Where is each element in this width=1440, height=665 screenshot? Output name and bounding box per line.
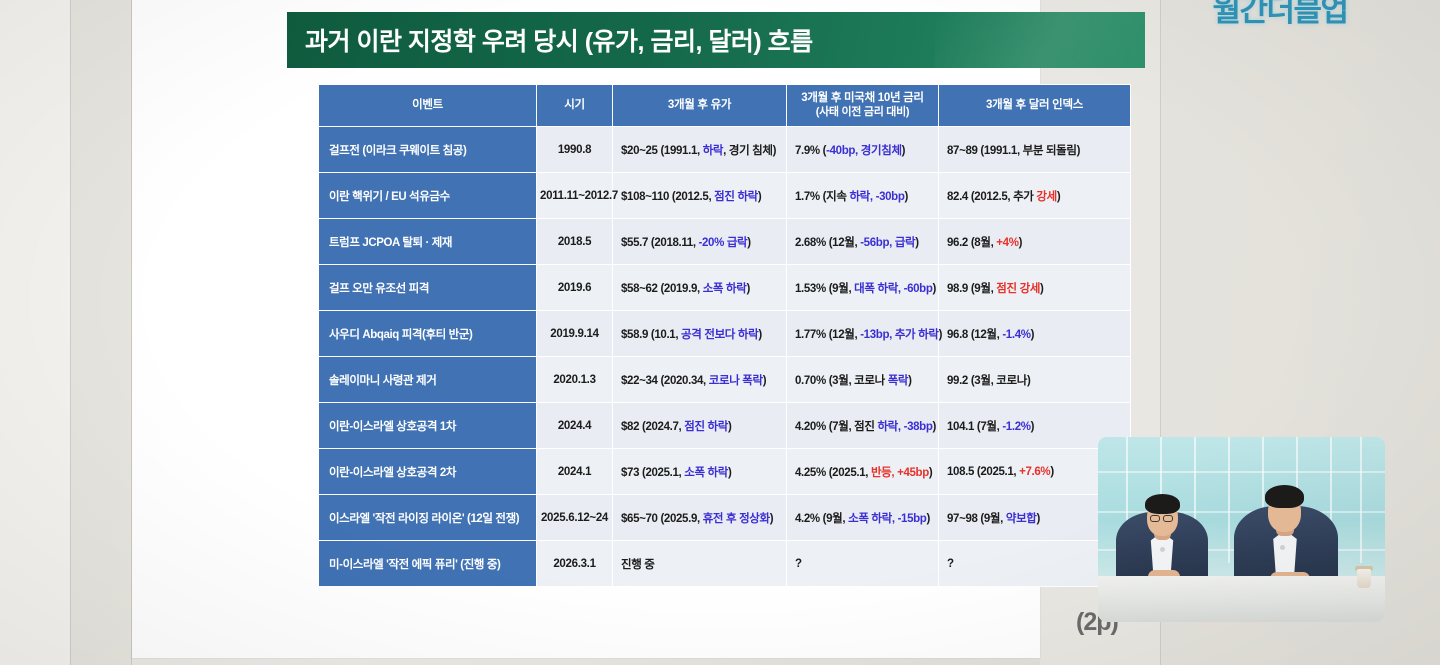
cell-period: 2024.1 [537, 449, 613, 495]
text-segment: ) [902, 145, 905, 157]
text-segment: 코로나 폭락 [709, 375, 763, 387]
table-row: 트럼프 JCPOA 탈퇴 · 제재2018.5$55.7 (2018.11, -… [319, 219, 1131, 265]
text-segment: -40bp, 경기침체 [826, 145, 902, 157]
text-segment: ) [1057, 191, 1060, 203]
table-row: 이란-이스라엘 상호공격 2차2024.1$73 (2025.1, 소폭 하락)… [319, 449, 1131, 495]
text-segment: $58.9 (10.1, [621, 329, 681, 341]
text-segment: ? [947, 558, 954, 570]
wall-panel-left-a [0, 0, 70, 665]
cell-oil-price: $58~62 (2019.9, 소폭 하락) [613, 265, 787, 311]
text-segment: 96.2 (8월, [947, 237, 996, 249]
column-header-event: 이벤트 [319, 85, 537, 127]
text-segment: 7.9% ( [795, 145, 826, 157]
text-segment: ) [929, 467, 932, 479]
table-row: 솔레이마니 사령관 제거2020.1.3$22~34 (2020.34, 코로나… [319, 357, 1131, 403]
text-segment: 99.2 (3월, 코로나) [947, 375, 1030, 387]
text-segment: $55.7 (2018.11, [621, 237, 699, 249]
text-segment: ? [795, 558, 802, 570]
cell-dollar-index: 96.8 (12월, -1.4%) [939, 311, 1131, 357]
text-segment: 1.77% (12월, [795, 329, 860, 341]
table-row: 이스라엘 '작전 라이징 라이온' (12일 전쟁)2025.6.12~24$6… [319, 495, 1131, 541]
cell-treasury-rate: 0.70% (3월, 코로나 폭락) [787, 357, 939, 403]
cell-treasury-rate: 4.2% (9월, 소폭 하락, -15bp) [787, 495, 939, 541]
cell-oil-price: $20~25 (1991.1, 하락, 경기 침체) [613, 127, 787, 173]
cell-period: 2011.11~2012.7 [537, 173, 613, 219]
text-segment: ) [758, 191, 761, 203]
table-row: 걸프전 (이라크 쿠웨이트 침공)1990.8$20~25 (1991.1, 하… [319, 127, 1131, 173]
text-segment: 소폭 하락 [703, 283, 747, 295]
text-segment: ) [915, 237, 918, 249]
cell-period: 2026.3.1 [537, 541, 613, 587]
text-segment: 점진 하락 [684, 421, 728, 433]
anchor-right-hair [1265, 485, 1304, 508]
cell-event: 이란-이스라엘 상호공격 1차 [319, 403, 537, 449]
anchor-left-glasses-left [1150, 515, 1160, 522]
text-segment: ) [728, 467, 731, 479]
cell-dollar-index: 87~89 (1991.1, 부분 되돌림) [939, 127, 1131, 173]
text-segment: ) [758, 329, 761, 341]
text-segment: 96.8 (12월, [947, 329, 1002, 341]
window-transom-1 [1098, 471, 1385, 473]
cell-oil-price: 진행 중 [613, 541, 787, 587]
cell-oil-price: $58.9 (10.1, 공격 전보다 하락) [613, 311, 787, 357]
studio-desk [1098, 576, 1385, 622]
text-segment: ) [905, 191, 908, 203]
table-body: 걸프전 (이라크 쿠웨이트 침공)1990.8$20~25 (1991.1, 하… [319, 127, 1131, 587]
text-segment: +4% [996, 237, 1018, 249]
text-segment: -20% 급락 [699, 237, 748, 249]
text-segment: ) [728, 421, 731, 433]
text-segment: $73 (2025.1, [621, 467, 684, 479]
events-table: 이벤트 시기 3개월 후 유가 3개월 후 미국채 10년 금리 (사태 이전 … [318, 84, 1131, 587]
cell-treasury-rate: 1.77% (12월, -13bp, 추가 하락) [787, 311, 939, 357]
text-segment: 점진 강세 [996, 283, 1040, 295]
studio-video-inset[interactable] [1098, 437, 1385, 622]
cell-event: 사우디 Abqaiq 피격(후티 반군) [319, 311, 537, 357]
cell-dollar-index: 98.9 (9월, 점진 강세) [939, 265, 1131, 311]
text-segment: 폭락 [888, 375, 908, 387]
window-mullion-4 [1228, 437, 1230, 563]
wall-panel-left-b [70, 0, 132, 665]
cell-period: 1990.8 [537, 127, 613, 173]
anchor-left-hair [1145, 494, 1180, 514]
column-header-period: 시기 [537, 85, 613, 127]
cell-dollar-index: 82.4 (2012.5, 추가 강세) [939, 173, 1131, 219]
text-segment: ) [1040, 283, 1043, 295]
text-segment: -56bp, 급락 [860, 237, 915, 249]
text-segment: $82 (2024.7, [621, 421, 684, 433]
text-segment: 소폭 하락, -15bp [848, 513, 926, 525]
cell-period: 2024.4 [537, 403, 613, 449]
text-segment: 소폭 하락 [684, 467, 728, 479]
cell-oil-price: $82 (2024.7, 점진 하락) [613, 403, 787, 449]
wall-seam-1 [70, 0, 71, 665]
cell-treasury-rate: 4.20% (7월, 점진 하락, -38bp) [787, 403, 939, 449]
table-header: 이벤트 시기 3개월 후 유가 3개월 후 미국채 10년 금리 (사태 이전 … [319, 85, 1131, 127]
table-header-row: 이벤트 시기 3개월 후 유가 3개월 후 미국채 10년 금리 (사태 이전 … [319, 85, 1131, 127]
cell-treasury-rate: 1.53% (9월, 대폭 하락, -60bp) [787, 265, 939, 311]
text-segment: ) [1050, 466, 1053, 478]
text-segment: ) [747, 237, 750, 249]
cell-period: 2025.6.12~24 [537, 495, 613, 541]
cell-oil-price: $22~34 (2020.34, 코로나 폭락) [613, 357, 787, 403]
column-header-rate-sub: (사태 이전 금리 대비) [789, 106, 936, 120]
anchor-left-lapel-mic [1160, 547, 1165, 552]
text-segment: ) [908, 375, 911, 387]
text-segment: 1.53% (9월, [795, 283, 854, 295]
cell-period: 2019.6 [537, 265, 613, 311]
text-segment: 108.5 (2025.1, [947, 466, 1019, 478]
text-segment: 98.9 (9월, [947, 283, 996, 295]
slide-title-banner: 과거 이란 지정학 우려 당시 (유가, 금리, 달러) 흐름 [287, 12, 1145, 68]
cell-oil-price: $65~70 (2025.9, 휴전 후 정상화) [613, 495, 787, 541]
text-segment: ) [1037, 513, 1040, 525]
text-segment: 104.1 (7월, [947, 421, 1002, 433]
text-segment: 82.4 (2012.5, 추가 [947, 191, 1036, 203]
text-segment: 하락, -38bp [877, 421, 932, 433]
cell-treasury-rate: 2.68% (12월, -56bp, 급락) [787, 219, 939, 265]
text-segment: ) [746, 283, 749, 295]
broadcaster-logo: 월간더블업 [1182, 0, 1378, 30]
text-segment: $65~70 (2025.9, [621, 513, 703, 525]
window-mullion-8 [1360, 437, 1362, 563]
cell-dollar-index: 99.2 (3월, 코로나) [939, 357, 1131, 403]
text-segment: -1.2% [1002, 421, 1030, 433]
text-segment: 4.20% (7월, 점진 [795, 421, 877, 433]
text-segment: ) [939, 329, 942, 341]
table-row: 걸프 오만 유조선 피격2019.6$58~62 (2019.9, 소폭 하락)… [319, 265, 1131, 311]
text-segment: $20~25 (1991.1, [621, 145, 703, 157]
text-segment: 4.25% (2025.1, [795, 467, 871, 479]
cell-event: 이스라엘 '작전 라이징 라이온' (12일 전쟁) [319, 495, 537, 541]
column-header-dollar: 3개월 후 달러 인덱스 [939, 85, 1131, 127]
cell-oil-price: $73 (2025.1, 소폭 하락) [613, 449, 787, 495]
text-segment: 대폭 하락, -60bp [854, 283, 932, 295]
text-segment: 하락 [703, 145, 723, 157]
events-table-container: 이벤트 시기 3개월 후 유가 3개월 후 미국채 10년 금리 (사태 이전 … [318, 84, 1130, 587]
text-segment: 97~98 (9월, [947, 513, 1006, 525]
cell-treasury-rate: 1.7% (지속 하락, -30bp) [787, 173, 939, 219]
cell-dollar-index: 96.2 (8월, +4%) [939, 219, 1131, 265]
text-segment: $58~62 (2019.9, [621, 283, 703, 295]
cell-event: 트럼프 JCPOA 탈퇴 · 제재 [319, 219, 537, 265]
text-segment: ) [933, 283, 936, 295]
text-segment: ) [1031, 421, 1034, 433]
column-header-rate: 3개월 후 미국채 10년 금리 (사태 이전 금리 대비) [787, 85, 939, 127]
text-segment: 휴전 후 정상화 [703, 513, 770, 525]
text-segment: ) [763, 375, 766, 387]
text-segment: ) [1019, 237, 1022, 249]
column-header-rate-main: 3개월 후 미국채 10년 금리 [801, 92, 923, 104]
text-segment: , 경기 침체) [723, 145, 776, 157]
cell-treasury-rate: ? [787, 541, 939, 587]
cell-event: 걸프 오만 유조선 피격 [319, 265, 537, 311]
cell-event: 이란 핵위기 / EU 석유금수 [319, 173, 537, 219]
text-segment: $22~34 (2020.34, [621, 375, 709, 387]
cell-period: 2019.9.14 [537, 311, 613, 357]
presentation-slide: 과거 이란 지정학 우려 당시 (유가, 금리, 달러) 흐름 이벤트 시기 3… [132, 0, 1040, 658]
cell-treasury-rate: 4.25% (2025.1, 반등, +45bp) [787, 449, 939, 495]
text-segment: -13bp, 추가 하락 [860, 329, 938, 341]
broadcaster-logo-text: 월간더블업 [1212, 0, 1347, 30]
coffee-cup [1357, 569, 1371, 588]
text-segment: 강세 [1036, 191, 1056, 203]
text-segment: ) [933, 421, 936, 433]
text-segment: 1.7% (지속 [795, 191, 849, 203]
cell-event: 걸프전 (이라크 쿠웨이트 침공) [319, 127, 537, 173]
text-segment: 하락, -30bp [849, 191, 904, 203]
text-segment: -1.4% [1002, 329, 1030, 341]
text-segment: +7.6% [1019, 466, 1050, 478]
text-segment: $108~110 (2012.5, [621, 191, 714, 203]
text-segment: 반등, +45bp [871, 467, 929, 479]
text-segment: 진행 중 [621, 559, 655, 571]
table-row: 미-이스라엘 '작전 에픽 퓨리' (진행 중)2026.3.1진행 중?? [319, 541, 1131, 587]
cell-period: 2020.1.3 [537, 357, 613, 403]
cell-oil-price: $108~110 (2012.5, 점진 하락) [613, 173, 787, 219]
cell-period: 2018.5 [537, 219, 613, 265]
cell-oil-price: $55.7 (2018.11, -20% 급락) [613, 219, 787, 265]
cell-event: 미-이스라엘 '작전 에픽 퓨리' (진행 중) [319, 541, 537, 587]
text-segment: 약보합 [1006, 513, 1037, 525]
text-segment: ) [927, 513, 930, 525]
column-header-oil: 3개월 후 유가 [613, 85, 787, 127]
text-segment: 0.70% (3월, 코로나 [795, 375, 888, 387]
cell-event: 솔레이마니 사령관 제거 [319, 357, 537, 403]
cell-treasury-rate: 7.9% (-40bp, 경기침체) [787, 127, 939, 173]
text-segment: ) [770, 513, 773, 525]
page-title: 과거 이란 지정학 우려 당시 (유가, 금리, 달러) 흐름 [305, 22, 813, 58]
text-segment: 2.68% (12월, [795, 237, 860, 249]
anchor-left-glasses-right [1163, 515, 1173, 522]
table-row: 이란 핵위기 / EU 석유금수2011.11~2012.7$108~110 (… [319, 173, 1131, 219]
screen: 과거 이란 지정학 우려 당시 (유가, 금리, 달러) 흐름 이벤트 시기 3… [0, 0, 1440, 665]
text-segment: ) [1031, 329, 1034, 341]
text-segment: 4.2% (9월, [795, 513, 848, 525]
text-segment: 87~89 (1991.1, 부분 되돌림) [947, 145, 1080, 157]
text-segment: 공격 전보다 하락 [681, 329, 758, 341]
table-row: 이란-이스라엘 상호공격 1차2024.4$82 (2024.7, 점진 하락)… [319, 403, 1131, 449]
table-row: 사우디 Abqaiq 피격(후티 반군)2019.9.14$58.9 (10.1… [319, 311, 1131, 357]
cell-event: 이란-이스라엘 상호공격 2차 [319, 449, 537, 495]
anchor-right-lapel-mic [1280, 545, 1285, 550]
text-segment: 점진 하락 [714, 191, 758, 203]
